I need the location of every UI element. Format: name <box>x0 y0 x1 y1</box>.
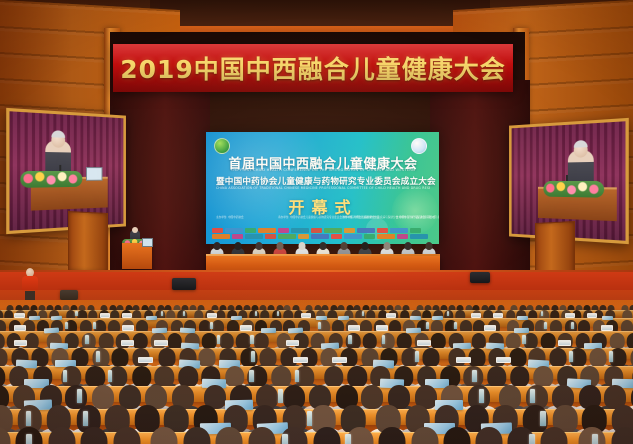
audience-member <box>443 436 470 444</box>
association-logo-icon <box>214 138 230 154</box>
water-bottle <box>415 351 419 362</box>
sponsor-logo <box>364 234 375 239</box>
desk-nameplate <box>348 325 360 331</box>
water-bottle <box>75 311 78 317</box>
sponsor-logo <box>390 228 408 233</box>
audience-member <box>184 436 211 444</box>
sponsor-logo <box>311 228 322 233</box>
main-red-banner: 2019中国中西融合儿童健康大会 <box>113 44 513 92</box>
water-bottle <box>479 389 484 403</box>
desk-nameplate <box>301 313 312 318</box>
desk-nameplate <box>456 357 471 364</box>
audience-member-head <box>112 348 129 367</box>
audience-member-head <box>550 348 567 367</box>
audience-member-head <box>135 405 160 432</box>
sponsor-logo <box>357 228 375 233</box>
water-bottle <box>255 311 258 317</box>
water-bottle <box>282 434 288 444</box>
screen-left-laptop <box>86 167 102 181</box>
audience-seating-area <box>0 300 633 444</box>
desk-nameplate <box>240 325 252 331</box>
sponsor-logo <box>278 234 296 239</box>
desk-nameplate <box>587 313 598 318</box>
water-bottle <box>345 434 351 444</box>
audience-member-head <box>361 385 383 410</box>
water-bottle <box>249 370 254 382</box>
sponsor-logo <box>397 234 408 239</box>
conference-booklet <box>145 316 156 321</box>
water-bottle <box>454 322 457 329</box>
panelist-head <box>319 242 326 250</box>
audience-member <box>411 436 438 444</box>
sponsor-logo <box>377 234 395 239</box>
staff-red-shirt <box>22 276 38 292</box>
water-bottle <box>540 411 546 426</box>
desk-nameplate <box>293 357 308 364</box>
water-bottle <box>592 434 598 444</box>
audience-member-head <box>92 348 109 367</box>
panelist-head <box>256 242 263 250</box>
water-bottle <box>530 389 535 403</box>
desk-nameplate <box>122 313 133 318</box>
audience-member <box>0 436 11 444</box>
water-bottle <box>210 322 213 329</box>
water-bottle <box>26 434 32 444</box>
water-bottle <box>318 322 321 329</box>
audience-member <box>216 436 243 444</box>
water-bottle <box>250 335 254 344</box>
water-bottle <box>251 351 255 362</box>
audience-member <box>612 436 633 444</box>
audience-member-head <box>509 348 526 367</box>
desk-nameplate <box>100 313 111 318</box>
screen-right-speaker-hair <box>574 140 588 148</box>
backdrop-info-column-4: 支持单位: 广州一品红制药有限公司 北京亚东生物制药有限公司 <box>396 216 439 219</box>
water-bottle <box>348 335 352 344</box>
sponsor-logo <box>410 228 421 233</box>
sponsor-logo <box>212 228 223 233</box>
sponsor-logo <box>298 234 309 239</box>
panelist-head <box>383 242 390 250</box>
backdrop-info-column-1: 主办单位: 中国中药协会 <box>216 216 244 219</box>
water-bottle <box>426 322 429 329</box>
panelist-head <box>277 242 284 250</box>
audience-member <box>48 436 75 444</box>
desk-nameplate <box>14 340 28 346</box>
water-bottle <box>183 311 186 317</box>
podium-monitor <box>142 238 153 247</box>
water-bottle <box>307 411 313 426</box>
conference-booklet <box>406 328 421 334</box>
water-bottle <box>77 389 82 403</box>
sponsor-logo <box>245 228 256 233</box>
sponsor-logo <box>245 234 263 239</box>
backdrop-opening-ceremony-headline: 开幕式 <box>222 194 424 218</box>
desk-nameplate <box>138 357 153 364</box>
desk-nameplate <box>376 325 388 331</box>
banner-title-text: 2019中国中西融合儿童健康大会 <box>120 50 506 86</box>
sponsor-logo <box>377 228 388 233</box>
water-bottle <box>382 335 386 344</box>
sponsor-logo <box>278 228 289 233</box>
sponsor-logo <box>324 228 342 233</box>
sponsor-logo <box>212 234 230 239</box>
desk-nameplate <box>558 340 572 346</box>
staff-member-red-shirt <box>22 268 38 300</box>
hall-door-left[interactable] <box>68 211 108 272</box>
audience-member-head <box>199 348 216 367</box>
water-bottle <box>83 411 89 426</box>
screen-left-flower-arrangement <box>20 171 82 188</box>
audience-member <box>476 436 503 444</box>
water-bottle <box>447 311 450 317</box>
sponsor-logo <box>258 228 276 233</box>
desk-nameplate <box>121 340 135 346</box>
water-bottle <box>217 335 221 344</box>
audience-member-head <box>158 348 175 367</box>
conference-hall-photo: 2019中国中西融合儿童健康大会 首届中国中西融合儿童健康大会 THE FIRS… <box>0 0 633 444</box>
audience-member-head <box>92 385 114 410</box>
water-bottle <box>277 311 280 317</box>
sponsor-logo <box>232 234 243 239</box>
sponsor-logo <box>291 228 309 233</box>
desk-nameplate <box>154 340 168 346</box>
panelist-head <box>298 242 305 250</box>
panelist-head <box>213 242 220 250</box>
audience-member-head <box>422 348 439 367</box>
water-bottle <box>96 351 100 362</box>
water-bottle <box>93 322 96 329</box>
desk-nameplate <box>332 357 347 364</box>
audience-member-head <box>132 366 152 388</box>
conference-booklet <box>29 316 40 320</box>
water-bottle <box>26 411 32 426</box>
panelist-head <box>426 242 433 250</box>
stage-monitor-speaker-2 <box>470 272 490 283</box>
sponsor-logo <box>331 234 342 239</box>
committee-logo-icon <box>411 138 427 154</box>
stage-monitor-speaker-1 <box>172 278 196 290</box>
water-bottle <box>609 351 613 362</box>
water-bottle <box>472 370 477 382</box>
water-bottle <box>544 322 547 329</box>
audience-member-head <box>469 348 486 367</box>
stage-led-backdrop: 首届中国中西融合儿童健康大会 THE FIRST CHILD HEALTH CO… <box>206 132 439 244</box>
panelist-head <box>341 242 348 250</box>
audience-member <box>313 436 340 444</box>
podium-speaker-head <box>132 227 138 233</box>
audience-member-head <box>260 348 277 367</box>
desk-nameplate <box>386 313 397 318</box>
sponsor-logo <box>311 234 329 239</box>
sponsor-logo <box>344 228 355 233</box>
water-bottle <box>65 322 68 329</box>
backdrop-subtitle-english: CHINA ASSOCIATION OF TRADITIONAL CHINESE… <box>216 186 430 190</box>
panelist-head <box>405 242 412 250</box>
panelist-head <box>234 242 241 250</box>
audience-member-head <box>487 366 507 388</box>
audience-member <box>151 436 178 444</box>
audience-member-head <box>590 348 607 367</box>
screen-right-flower-arrangement <box>543 181 604 198</box>
staff-legs <box>25 291 35 300</box>
water-bottle <box>85 335 89 344</box>
desk-nameplate <box>484 325 496 331</box>
water-bottle <box>362 311 365 317</box>
sponsor-logo <box>410 234 428 239</box>
audience-member <box>541 436 568 444</box>
desk-nameplate <box>14 313 25 318</box>
audience-member-head <box>324 366 344 388</box>
desk-nameplate <box>14 325 26 331</box>
audience-member <box>113 436 140 444</box>
desk-nameplate <box>417 340 431 346</box>
backdrop-main-title-english: THE FIRST CHILD HEALTH CONFERENCE ON THE… <box>222 168 424 172</box>
sponsor-logo <box>225 228 243 233</box>
desk-nameplate <box>565 313 576 318</box>
water-bottle <box>529 434 535 444</box>
desk-nameplate <box>122 325 134 331</box>
water-bottle <box>63 370 68 382</box>
audience-member-head <box>271 366 291 388</box>
water-bottle <box>278 389 283 403</box>
desk-nameplate <box>493 313 504 318</box>
panelist-head <box>362 242 369 250</box>
desk-nameplate <box>601 325 613 331</box>
water-bottle <box>108 370 113 382</box>
desk-nameplate <box>286 340 300 346</box>
desk-nameplate <box>496 357 511 364</box>
audience-member <box>80 436 107 444</box>
ceiling-recess <box>150 0 490 28</box>
water-bottle <box>522 335 526 344</box>
audience-member <box>378 436 405 444</box>
desk-nameplate <box>471 313 482 318</box>
audience-member-head <box>348 366 368 388</box>
water-bottle <box>295 370 300 382</box>
sponsor-logo <box>265 234 276 239</box>
audience-member <box>249 436 276 444</box>
audience-row <box>0 436 633 444</box>
sponsor-logo <box>344 234 362 239</box>
desk-nameplate <box>207 313 218 318</box>
stage-monitor-speaker-3 <box>60 290 78 300</box>
water-bottle <box>161 311 164 317</box>
water-bottle <box>569 351 573 362</box>
